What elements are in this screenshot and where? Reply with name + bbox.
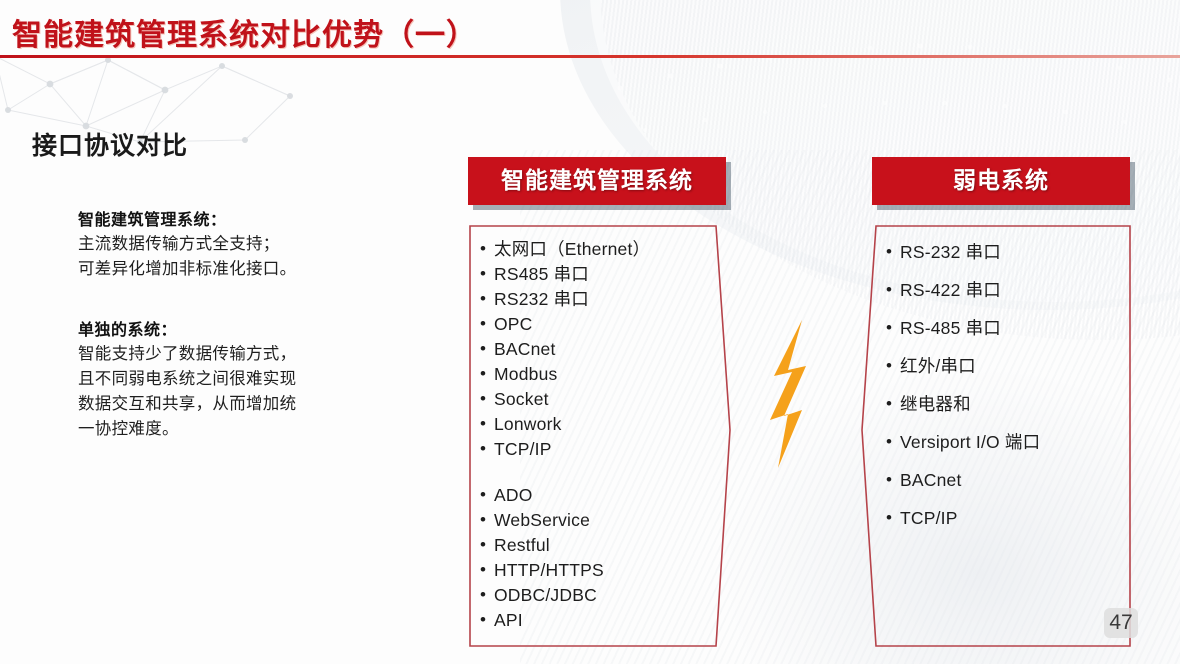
bullet-icon: •: [886, 317, 900, 339]
list-item: •继电器和: [886, 393, 1126, 415]
bullet-icon: •: [886, 241, 900, 263]
bullet-icon: •: [886, 507, 900, 529]
list-item-label: TCP/IP: [900, 507, 958, 529]
bullet-icon: •: [886, 393, 900, 415]
list-item: •红外/串口: [886, 355, 1126, 377]
list-item-label: RS-485 串口: [900, 317, 1001, 339]
panel-right-item-list: •RS-232 串口•RS-422 串口•RS-485 串口•红外/串口•继电器…: [886, 241, 1126, 545]
page-number-badge: 47: [1104, 608, 1138, 638]
slide-canvas: 智能建筑管理系统对比优势（一） 接口协议对比 智能建筑管理系统： 主流数据传输方…: [0, 0, 1180, 664]
bullet-icon: •: [886, 469, 900, 491]
bullet-icon: •: [886, 431, 900, 453]
list-item: •TCP/IP: [886, 507, 1126, 529]
bullet-icon: •: [886, 355, 900, 377]
list-item-label: RS-232 串口: [900, 241, 1001, 263]
list-item: •RS-485 串口: [886, 317, 1126, 339]
lightning-bolt-icon: [758, 318, 844, 470]
list-item-label: RS-422 串口: [900, 279, 1001, 301]
list-item: •RS-232 串口: [886, 241, 1126, 263]
bullet-icon: •: [886, 279, 900, 301]
list-item: •RS-422 串口: [886, 279, 1126, 301]
list-item: •BACnet: [886, 469, 1126, 491]
list-item: •Versiport I/O 端口: [886, 431, 1126, 453]
list-item-label: Versiport I/O 端口: [900, 431, 1040, 453]
list-item-label: 红外/串口: [900, 355, 976, 377]
list-item-label: BACnet: [900, 469, 962, 491]
list-item-label: 继电器和: [900, 393, 971, 415]
